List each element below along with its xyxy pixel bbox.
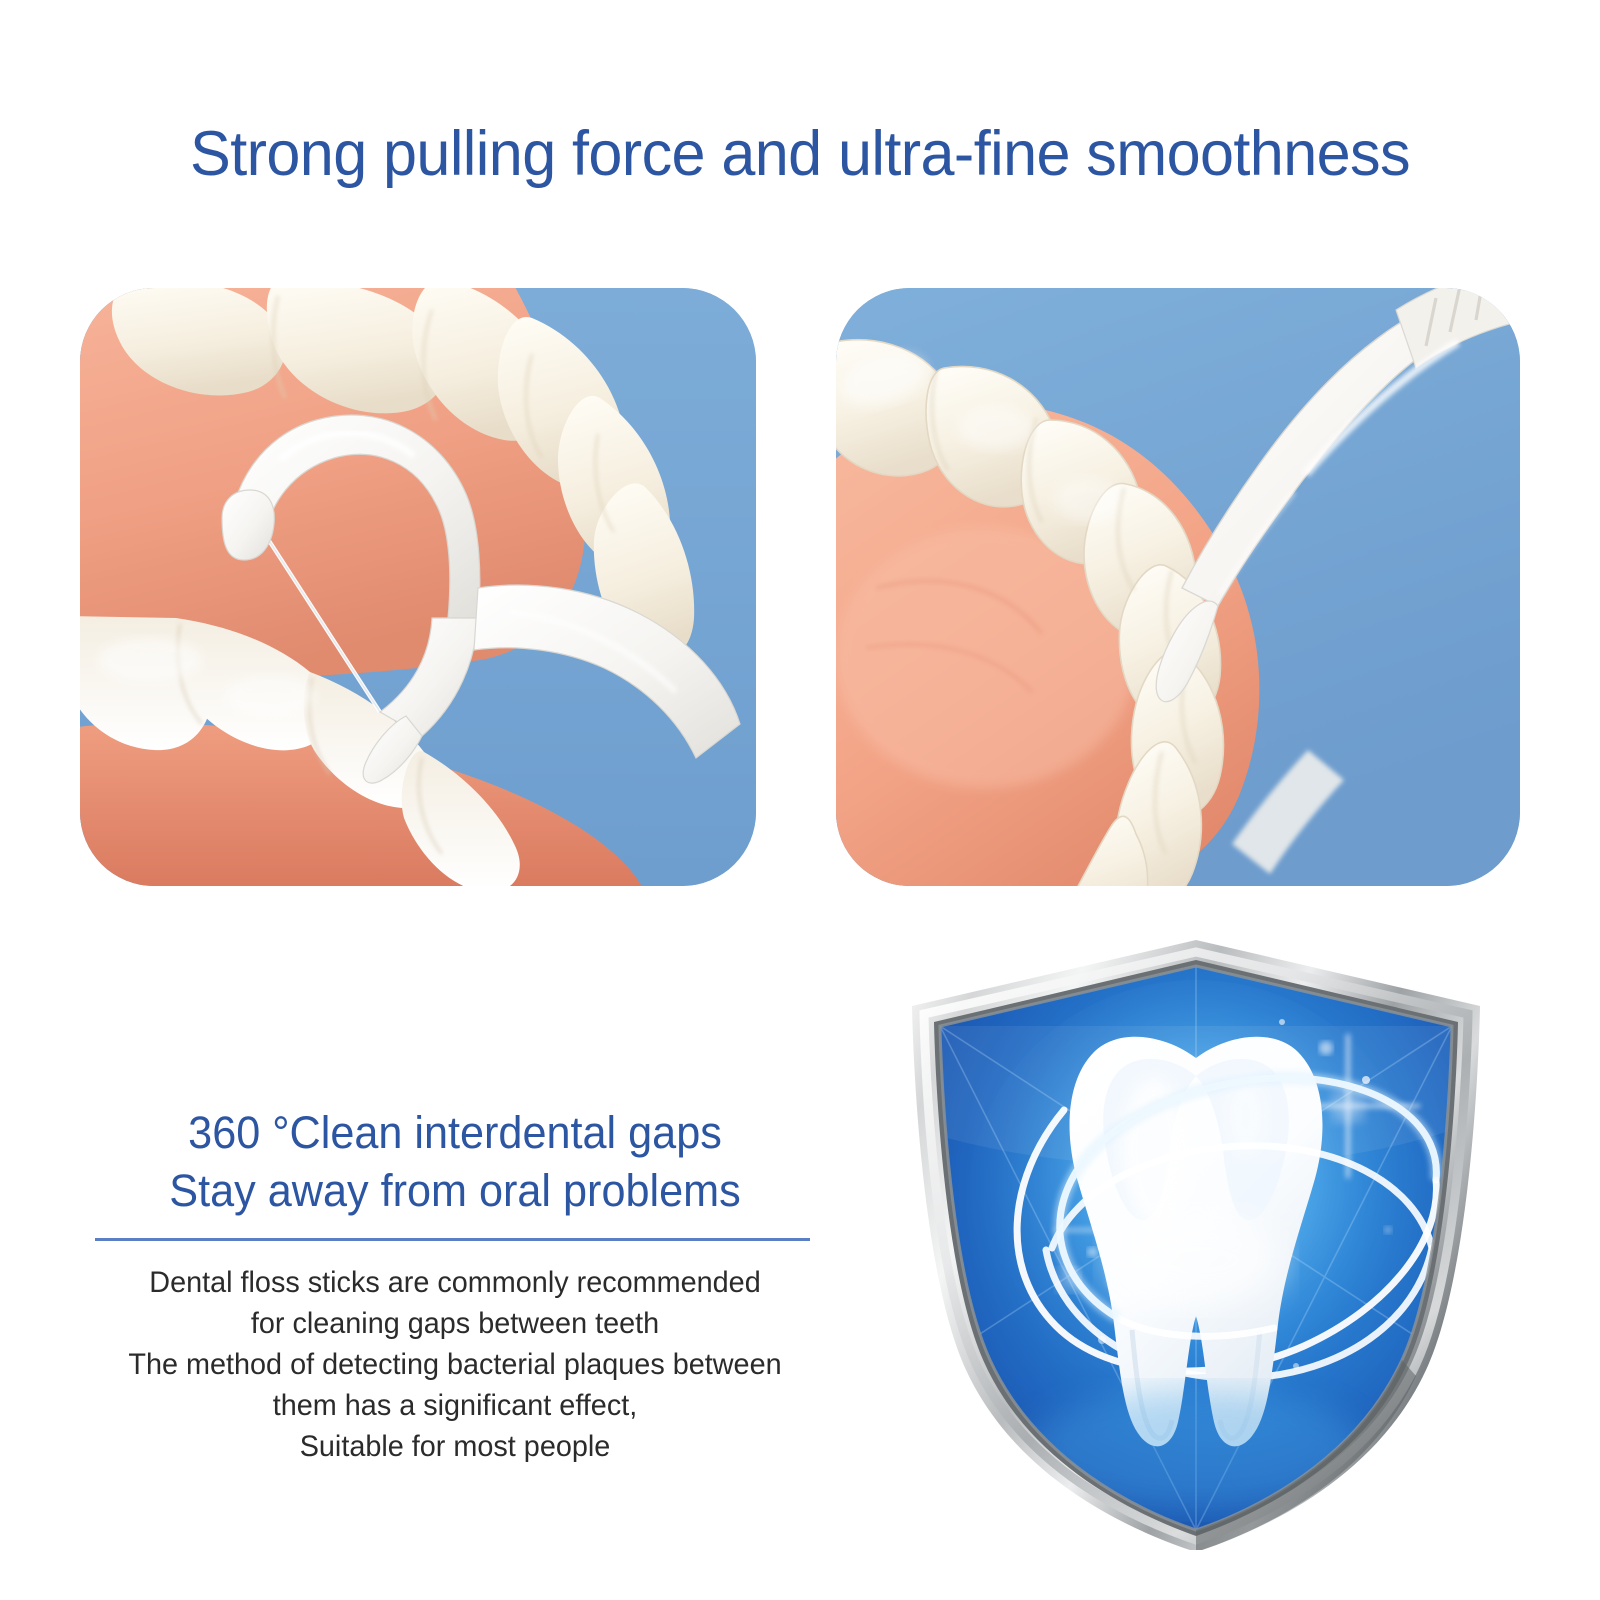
shield-graphic — [896, 930, 1496, 1550]
floss-pick-illustration — [80, 288, 756, 886]
body-copy-line: Suitable for most people — [105, 1426, 806, 1467]
subheading-line-1: 360 °Clean interdental gaps — [109, 1104, 800, 1162]
body-copy-line: for cleaning gaps between teeth — [105, 1303, 806, 1344]
dental-protection-shield-emblem — [896, 930, 1496, 1550]
body-copy-line: Dental floss sticks are commonly recomme… — [105, 1262, 806, 1303]
product-photo-floss-pick — [80, 288, 756, 886]
section-divider — [95, 1238, 810, 1241]
body-copy-block: Dental floss sticks are commonly recomme… — [105, 1262, 806, 1467]
body-copy-line: The method of detecting bacterial plaque… — [105, 1344, 806, 1385]
product-photo-interdental-pick — [836, 288, 1520, 886]
page-headline: Strong pulling force and ultra-fine smoo… — [24, 118, 1576, 190]
subheading-line-2: Stay away from oral problems — [109, 1162, 800, 1220]
body-copy-line: them has a significant effect, — [105, 1385, 806, 1426]
interdental-pick-illustration — [836, 288, 1520, 886]
subheading-block: 360 °Clean interdental gaps Stay away fr… — [109, 1104, 800, 1220]
